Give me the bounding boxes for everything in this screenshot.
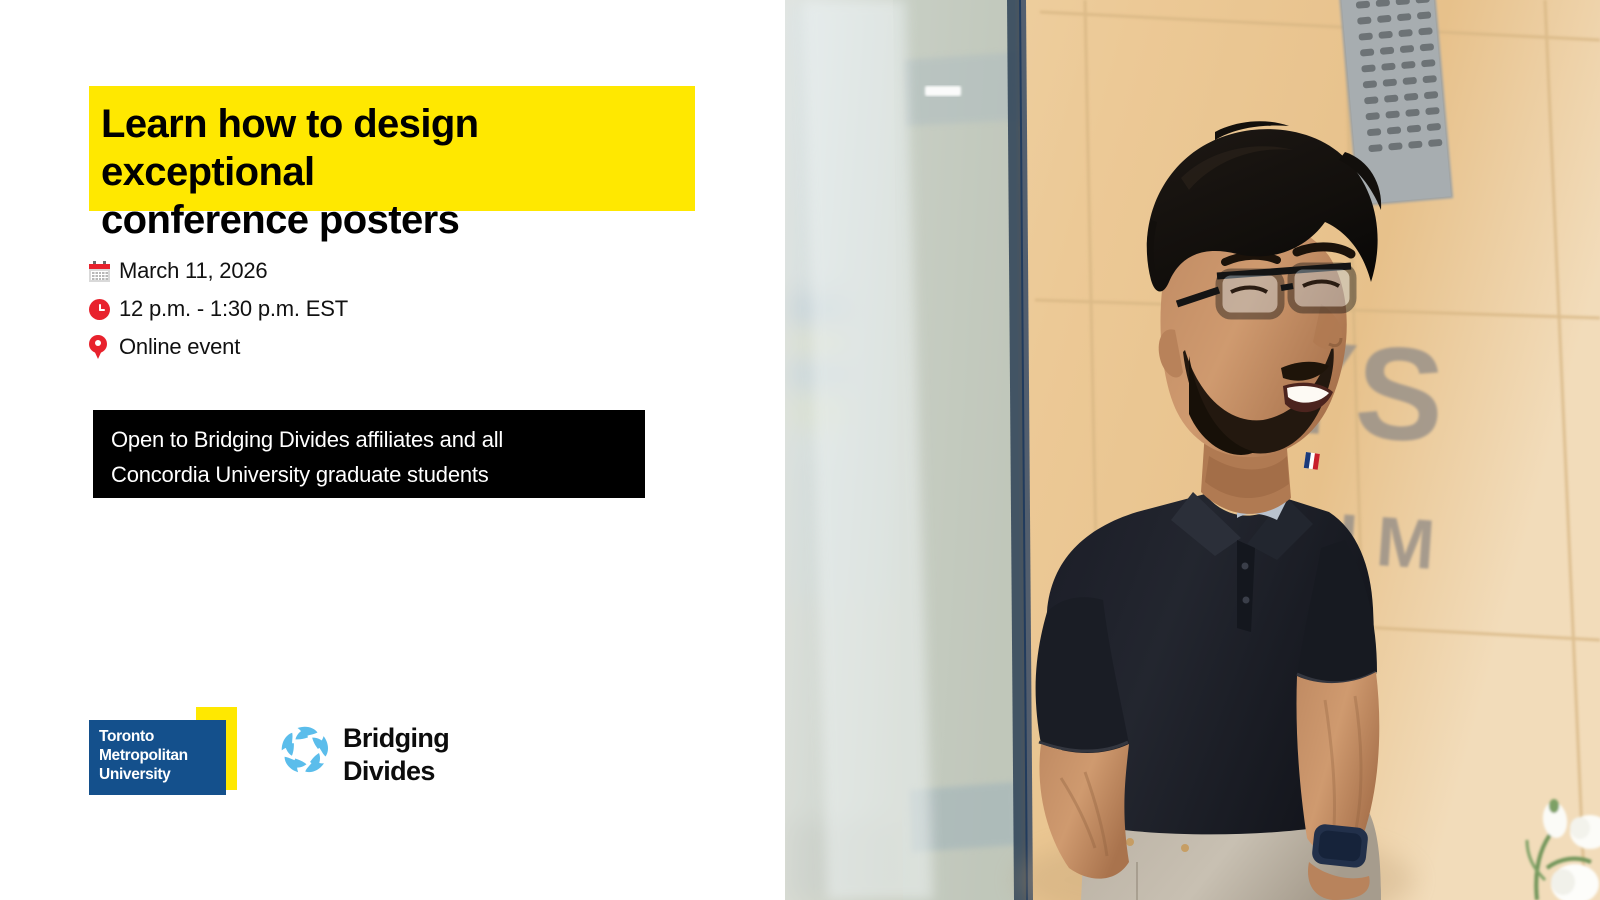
location-pin-icon — [89, 332, 119, 362]
audience-note: Open to Bridging Divides affiliates and … — [111, 422, 629, 492]
event-date-label: March 11, 2026 — [119, 258, 267, 284]
event-promo-poster: Learn how to design exceptional conferen… — [0, 0, 1600, 900]
logo-row: Toronto Metropolitan University — [89, 700, 509, 800]
tmu-blue-block: Toronto Metropolitan University — [89, 720, 226, 795]
toronto-metropolitan-university-logo: Toronto Metropolitan University — [89, 700, 239, 800]
detail-row-time: 12 p.m. - 1:30 p.m. EST — [89, 290, 649, 328]
pinwheel-petals-icon — [275, 720, 335, 780]
tmu-wordmark: Toronto Metropolitan University — [99, 727, 188, 784]
title-highlight-band: Learn how to design exceptional conferen… — [89, 86, 695, 211]
detail-row-date: March 11, 2026 — [89, 252, 649, 290]
detail-row-location: Online event — [89, 328, 649, 366]
page-title: Learn how to design exceptional conferen… — [101, 100, 695, 244]
event-time-label: 12 p.m. - 1:30 p.m. EST — [119, 296, 348, 322]
bridging-divides-logo: Bridging Divides — [275, 712, 515, 792]
calendar-icon — [89, 256, 119, 286]
event-location-label: Online event — [119, 334, 240, 360]
audience-callout-box: Open to Bridging Divides affiliates and … — [93, 410, 645, 498]
event-photo: YS U M — [785, 0, 1600, 900]
event-details-list: March 11, 2026 12 p.m. - 1:30 p.m. EST — [89, 252, 649, 366]
clock-icon — [89, 294, 119, 324]
bridging-divides-wordmark: Bridging Divides — [343, 722, 449, 788]
content-panel: Learn how to design exceptional conferen… — [0, 0, 785, 900]
